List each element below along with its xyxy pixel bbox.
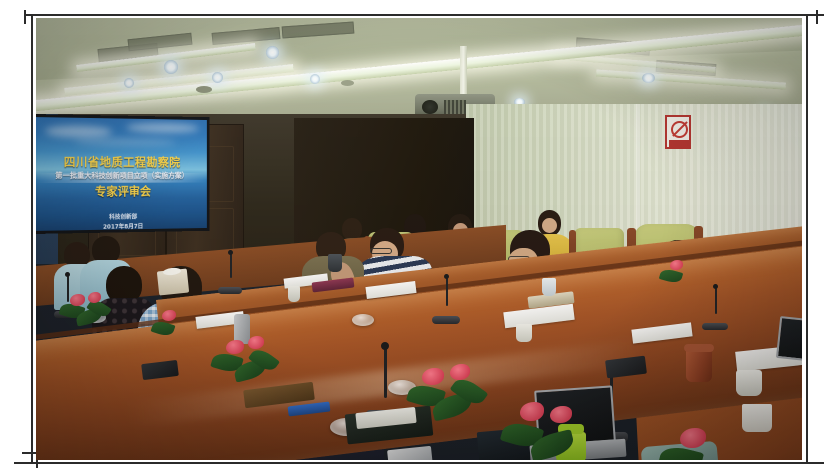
microphone-capsule-icon — [228, 250, 233, 255]
anthurium-plant — [498, 400, 594, 460]
ceiling-downlight — [266, 46, 279, 59]
anthurium-plant — [210, 336, 282, 394]
projector-mount-pole — [460, 46, 467, 98]
plant-flower — [226, 340, 244, 354]
microphone-neck — [715, 288, 717, 314]
plant-flower — [162, 310, 176, 321]
water-cup[interactable] — [542, 278, 556, 296]
ceiling-downlight — [124, 78, 134, 88]
slide-date: 2017年8月7日 — [36, 220, 207, 231]
frame-line-top — [24, 14, 824, 16]
microphone-base — [432, 316, 460, 324]
projection-screen: 四川省地质工程勘察院 第一批重大科技创新项目立项（实施方案） 专家评审会 科技创… — [36, 117, 207, 231]
no-smoking-sign — [665, 115, 691, 149]
tea-cup-lidded[interactable] — [686, 348, 712, 382]
paper-cup[interactable] — [288, 286, 300, 302]
slide-subtitle: 第一批重大科技创新项目立项（实施方案） — [36, 170, 207, 181]
microphone-neck — [384, 348, 387, 398]
slide-cloud-graphic — [74, 137, 177, 146]
frame-tick-topright — [816, 10, 818, 24]
plant-flower — [520, 402, 544, 421]
anthurium-plant — [654, 428, 754, 460]
tea-cup[interactable] — [328, 254, 342, 272]
no-smoking-label-bar — [669, 140, 689, 148]
smoke-detector-icon — [196, 86, 212, 93]
projector-lens-icon — [422, 100, 438, 114]
plant-flower — [680, 428, 706, 448]
plant-flower — [450, 364, 470, 380]
microphone-neck — [446, 278, 448, 306]
conference-room-photograph: 四川省地质工程勘察院 第一批重大科技创新项目立项（实施方案） 专家评审会 科技创… — [36, 18, 802, 460]
eyeglasses-icon — [370, 248, 392, 254]
laptop-screen[interactable] — [776, 316, 802, 362]
slide-cloud-graphic — [45, 125, 112, 138]
slide-cloud-graphic — [126, 123, 199, 134]
frame-line-left — [31, 14, 33, 464]
frame-tick-topleft — [24, 10, 26, 24]
microphone-capsule-icon — [444, 274, 449, 279]
ceiling-downlight — [212, 72, 223, 83]
microphone-capsule-icon — [65, 272, 70, 277]
slide-heading: 专家评审会 — [36, 183, 207, 200]
microphone-neck — [230, 254, 232, 278]
microphone-base — [702, 323, 728, 330]
slide-title: 四川省地质工程勘察院 — [36, 153, 207, 170]
smoke-detector-icon — [341, 80, 354, 86]
glass-ashtray[interactable] — [352, 314, 374, 326]
plant-flower — [422, 368, 444, 385]
microphone-base — [218, 287, 242, 294]
plant-flower — [248, 336, 264, 349]
frame-tick-bottomleft — [22, 452, 36, 454]
photo-frame: 四川省地质工程勘察院 第一批重大科技创新项目立项（实施方案） 专家评审会 科技创… — [0, 0, 839, 476]
conference-microphone[interactable] — [218, 276, 242, 294]
microphone-capsule-icon — [713, 284, 718, 289]
conference-microphone[interactable] — [702, 312, 728, 330]
anthurium-plant — [148, 308, 198, 348]
plant-flower — [550, 406, 572, 423]
microphone-capsule-icon — [381, 342, 389, 350]
projector-vent-grill — [444, 100, 466, 114]
ceiling-downlight — [310, 74, 320, 84]
ceiling-downlight — [642, 73, 655, 83]
plant-flower — [70, 294, 85, 306]
anthurium-plant — [58, 290, 114, 336]
tea-mug[interactable] — [736, 370, 762, 396]
plant-flower — [670, 260, 683, 270]
anthurium-plant — [656, 258, 704, 294]
ceiling-downlight — [164, 60, 178, 74]
anthurium-plant — [404, 364, 490, 436]
smartphone-white[interactable] — [387, 446, 433, 460]
paper-cup[interactable] — [516, 324, 532, 342]
projection-screen-frame: 四川省地质工程勘察院 第一批重大科技创新项目立项（实施方案） 专家评审会 科技创… — [36, 114, 210, 234]
plant-leaf — [151, 319, 176, 338]
plant-leaf — [659, 267, 683, 285]
tea-cup-lid[interactable] — [684, 344, 714, 352]
frame-line-bottom — [14, 462, 824, 464]
frame-line-right — [806, 14, 808, 464]
conference-microphone[interactable] — [432, 304, 460, 324]
